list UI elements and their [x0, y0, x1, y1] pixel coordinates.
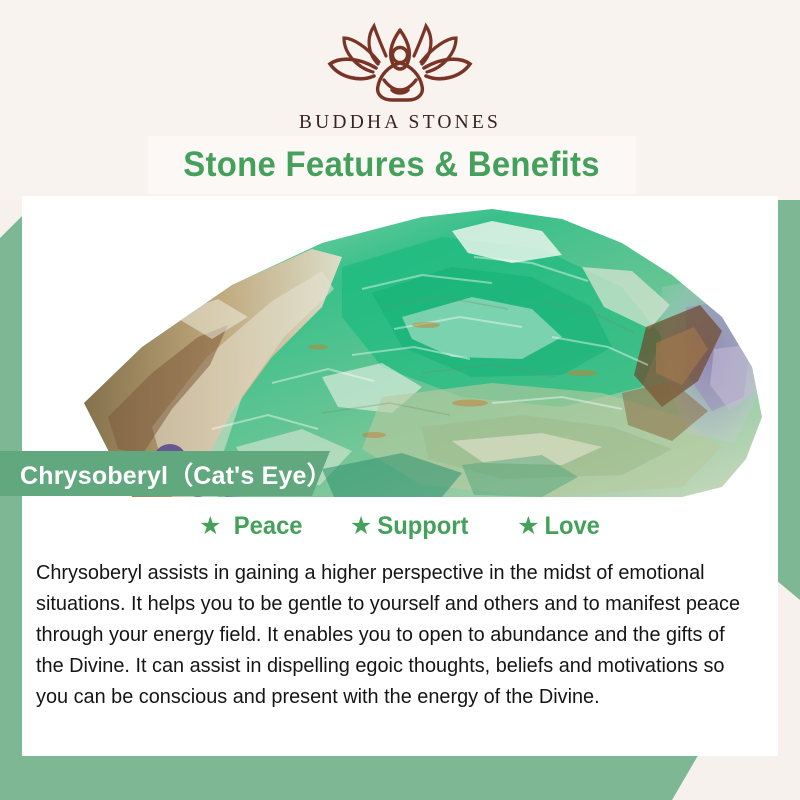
keyword-label: Peace: [233, 512, 302, 541]
page-title: Stone Features & Benefits: [184, 145, 601, 185]
keyword-label: Love: [544, 512, 599, 541]
frame-band-bottom: [0, 752, 800, 800]
keyword-love: ★ Love: [517, 512, 601, 541]
stone-name-banner: Chrysoberyl（Cat's Eye）: [0, 451, 330, 496]
stone-description: Chrysoberyl assists in gaining a higher …: [36, 558, 742, 713]
section-title-banner: Stone Features & Benefits: [148, 136, 636, 194]
star-icon: ★: [517, 514, 539, 539]
lotus-meditation-figure-icon: [316, 22, 484, 106]
brand-name: BUDDHA STONES: [299, 112, 501, 134]
keyword-list: ★ Peace ★ Support ★ Love: [22, 512, 778, 541]
star-icon: ★: [199, 514, 221, 539]
keyword-label: Support: [378, 512, 469, 541]
keyword-peace: ★ Peace: [199, 512, 304, 541]
brand-logo: BUDDHA STONES: [0, 22, 800, 134]
stone-name-label: Chrysoberyl（Cat's Eye）: [0, 456, 332, 492]
star-icon: ★: [350, 514, 372, 539]
keyword-support: ★ Support: [350, 512, 471, 541]
header: BUDDHA STONES Stone Features & Benefits: [0, 0, 800, 200]
